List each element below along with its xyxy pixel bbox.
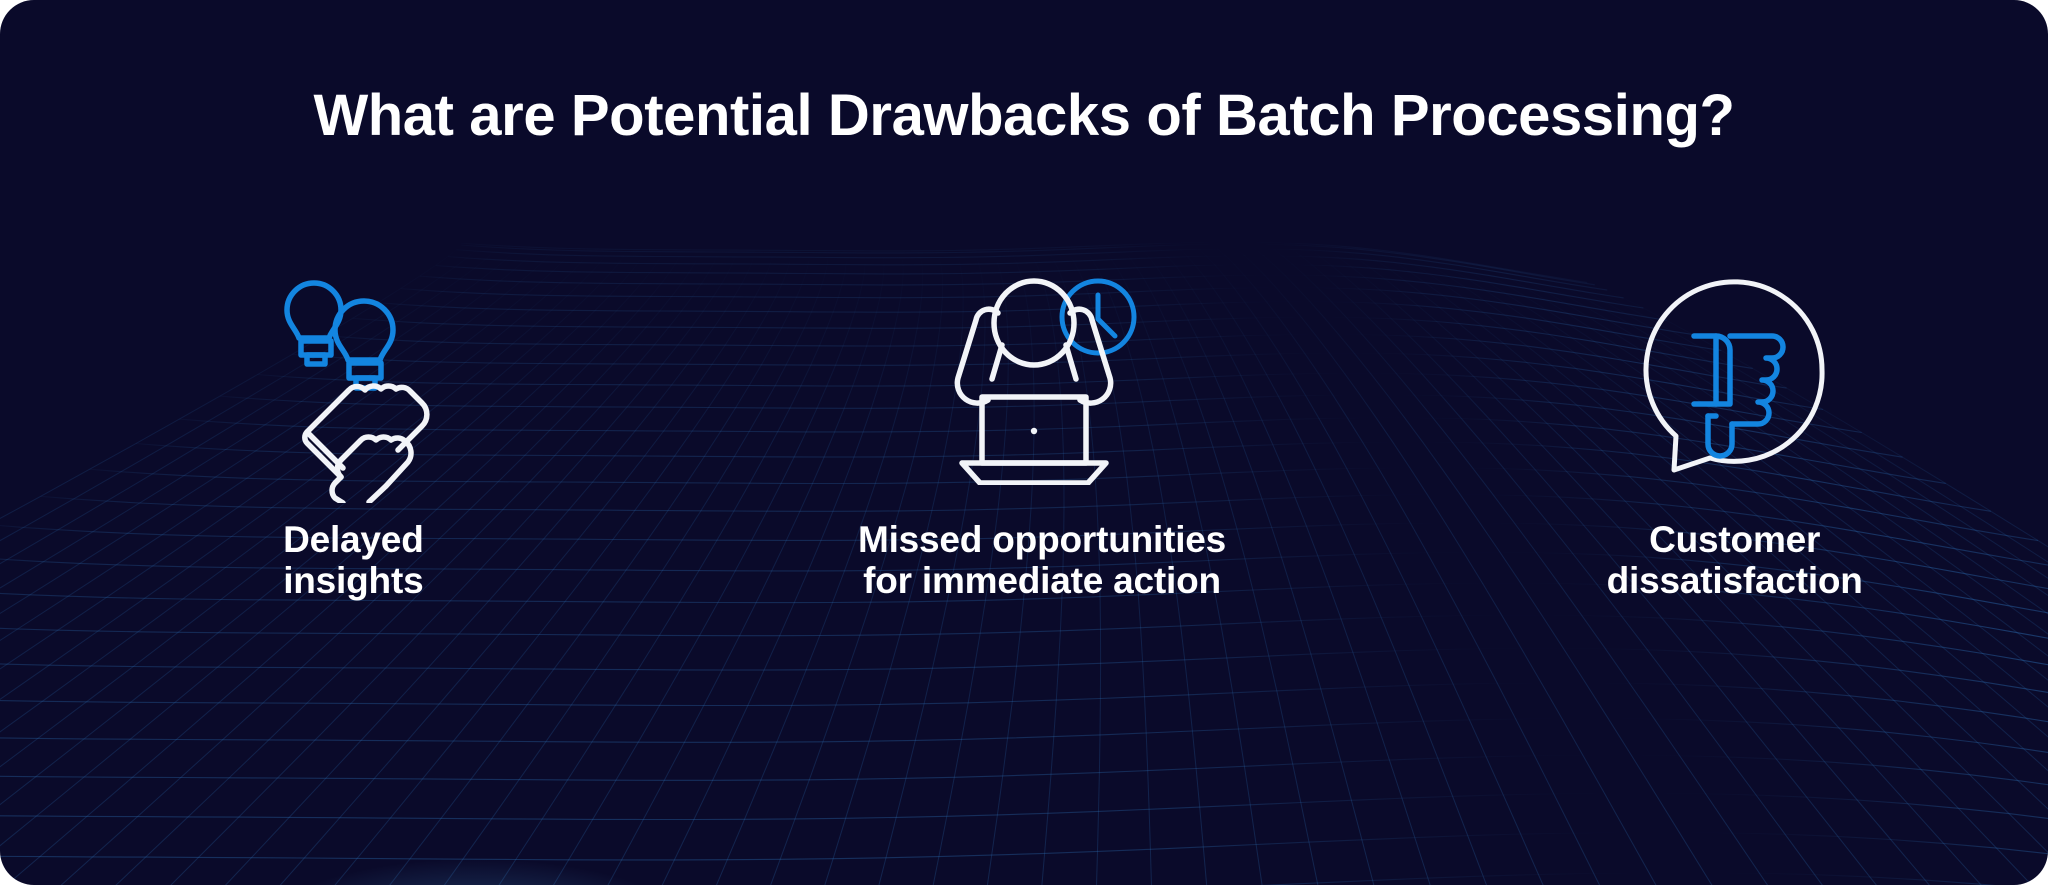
- icon-container: [922, 255, 1162, 505]
- page-title: What are Potential Drawbacks of Batch Pr…: [313, 82, 1734, 149]
- drawback-item-delayed-insights: Delayed insights: [40, 255, 667, 685]
- drawbacks-list: Delayed insights: [0, 255, 2048, 685]
- header: What are Potential Drawbacks of Batch Pr…: [0, 0, 2048, 230]
- lightbulbs-thinking-hand-icon: [243, 258, 463, 503]
- item-label: Customer dissatisfaction: [1607, 519, 1863, 602]
- speech-bubble-thumbs-down-icon: [1632, 278, 1837, 483]
- icon-container: [1632, 255, 1837, 505]
- drawback-item-customer-dissatisfaction: Customer dissatisfaction: [1421, 255, 2048, 685]
- infographic-card: What are Potential Drawbacks of Batch Pr…: [0, 0, 2048, 885]
- stressed-person-laptop-clock-icon: [922, 275, 1162, 485]
- item-label: Delayed insights: [283, 519, 424, 602]
- icon-container: [243, 255, 463, 505]
- drawback-item-missed-opportunities: Missed opportunities for immediate actio…: [729, 255, 1356, 685]
- item-label: Missed opportunities for immediate actio…: [858, 519, 1226, 602]
